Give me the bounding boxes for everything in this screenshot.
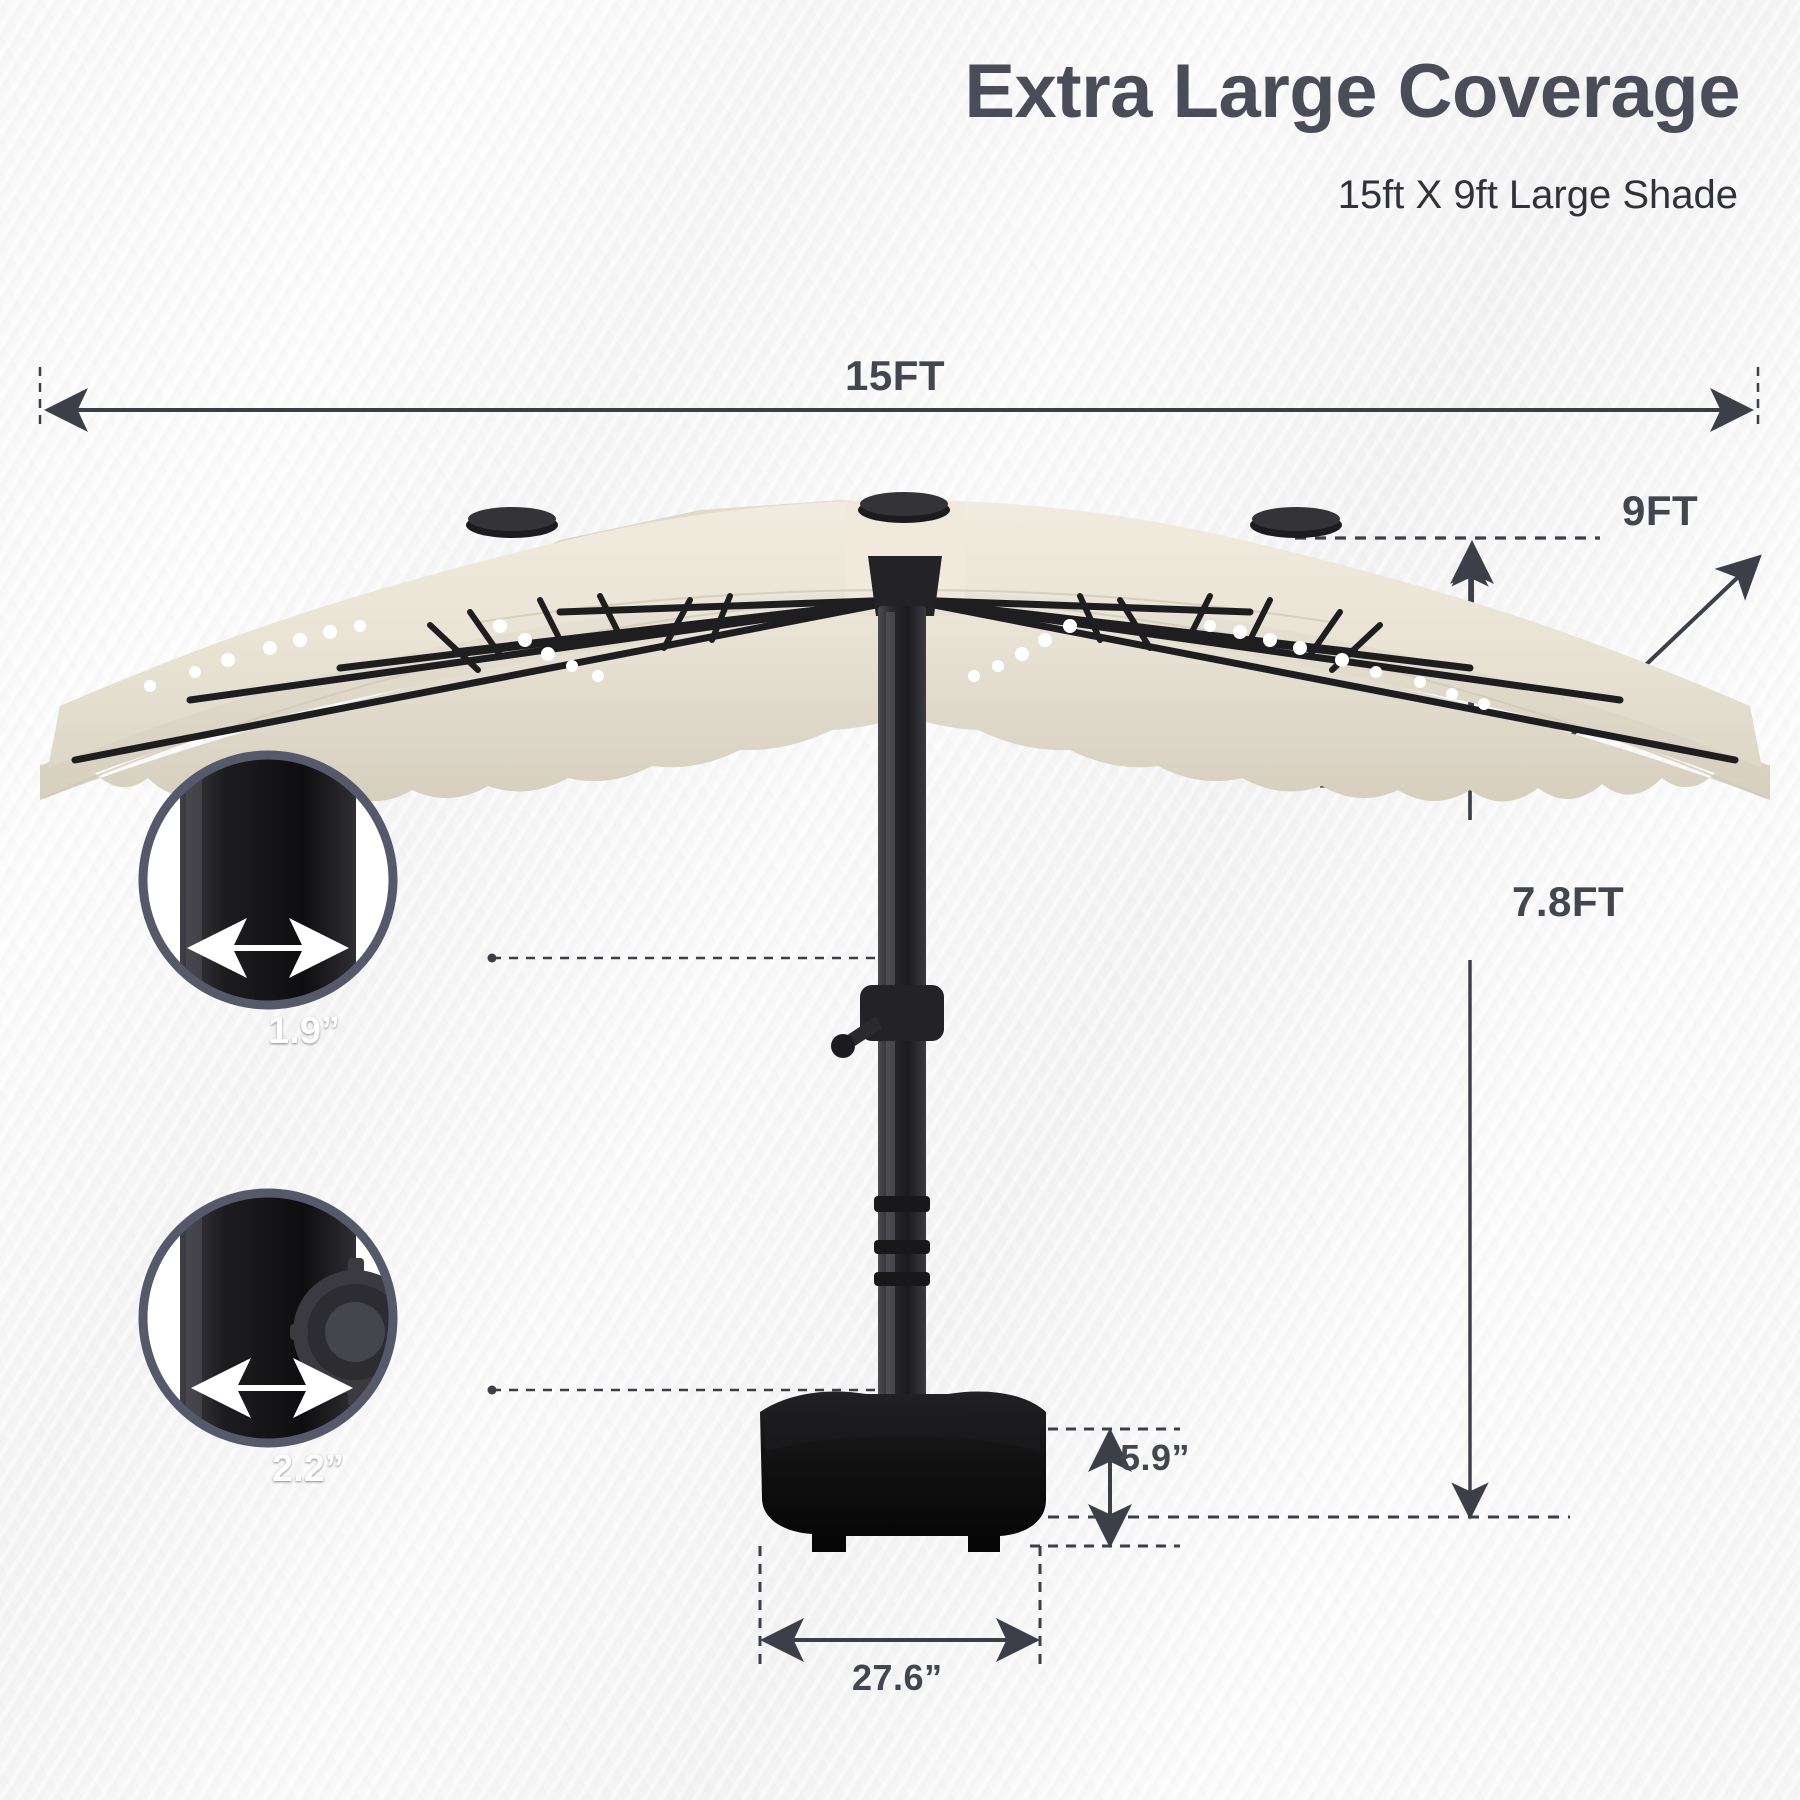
main-pole-upper bbox=[878, 606, 926, 1006]
dimension-label-depth: 9FT bbox=[1622, 487, 1698, 535]
dimension-label-base-width: 27.6” bbox=[852, 1657, 943, 1699]
dimension-label-base-height: 5.9” bbox=[1120, 1437, 1190, 1479]
pole-joint bbox=[874, 1240, 930, 1254]
dimension-label-width: 15FT bbox=[845, 352, 945, 400]
dimension-label-height: 7.8FT bbox=[1512, 878, 1624, 926]
tilt-collar bbox=[874, 1196, 930, 1212]
callout-label-pole-diameter: 1.9” bbox=[268, 1010, 340, 1053]
callout-label-knob-diameter: 2.2” bbox=[272, 1448, 344, 1491]
pole-joint-2 bbox=[874, 1272, 930, 1286]
callout-knob-diameter[interactable] bbox=[143, 1183, 422, 1483]
callout-pole-diameter[interactable] bbox=[143, 745, 393, 1045]
main-pole-lower bbox=[878, 1000, 926, 1430]
base-width-dimension bbox=[760, 1546, 1040, 1670]
callout-leader-lines bbox=[488, 954, 891, 1395]
umbrella-base bbox=[760, 1391, 1046, 1552]
product-dimension-diagram: Extra Large Coverage 15ft X 9ft Large Sh… bbox=[0, 0, 1800, 1800]
